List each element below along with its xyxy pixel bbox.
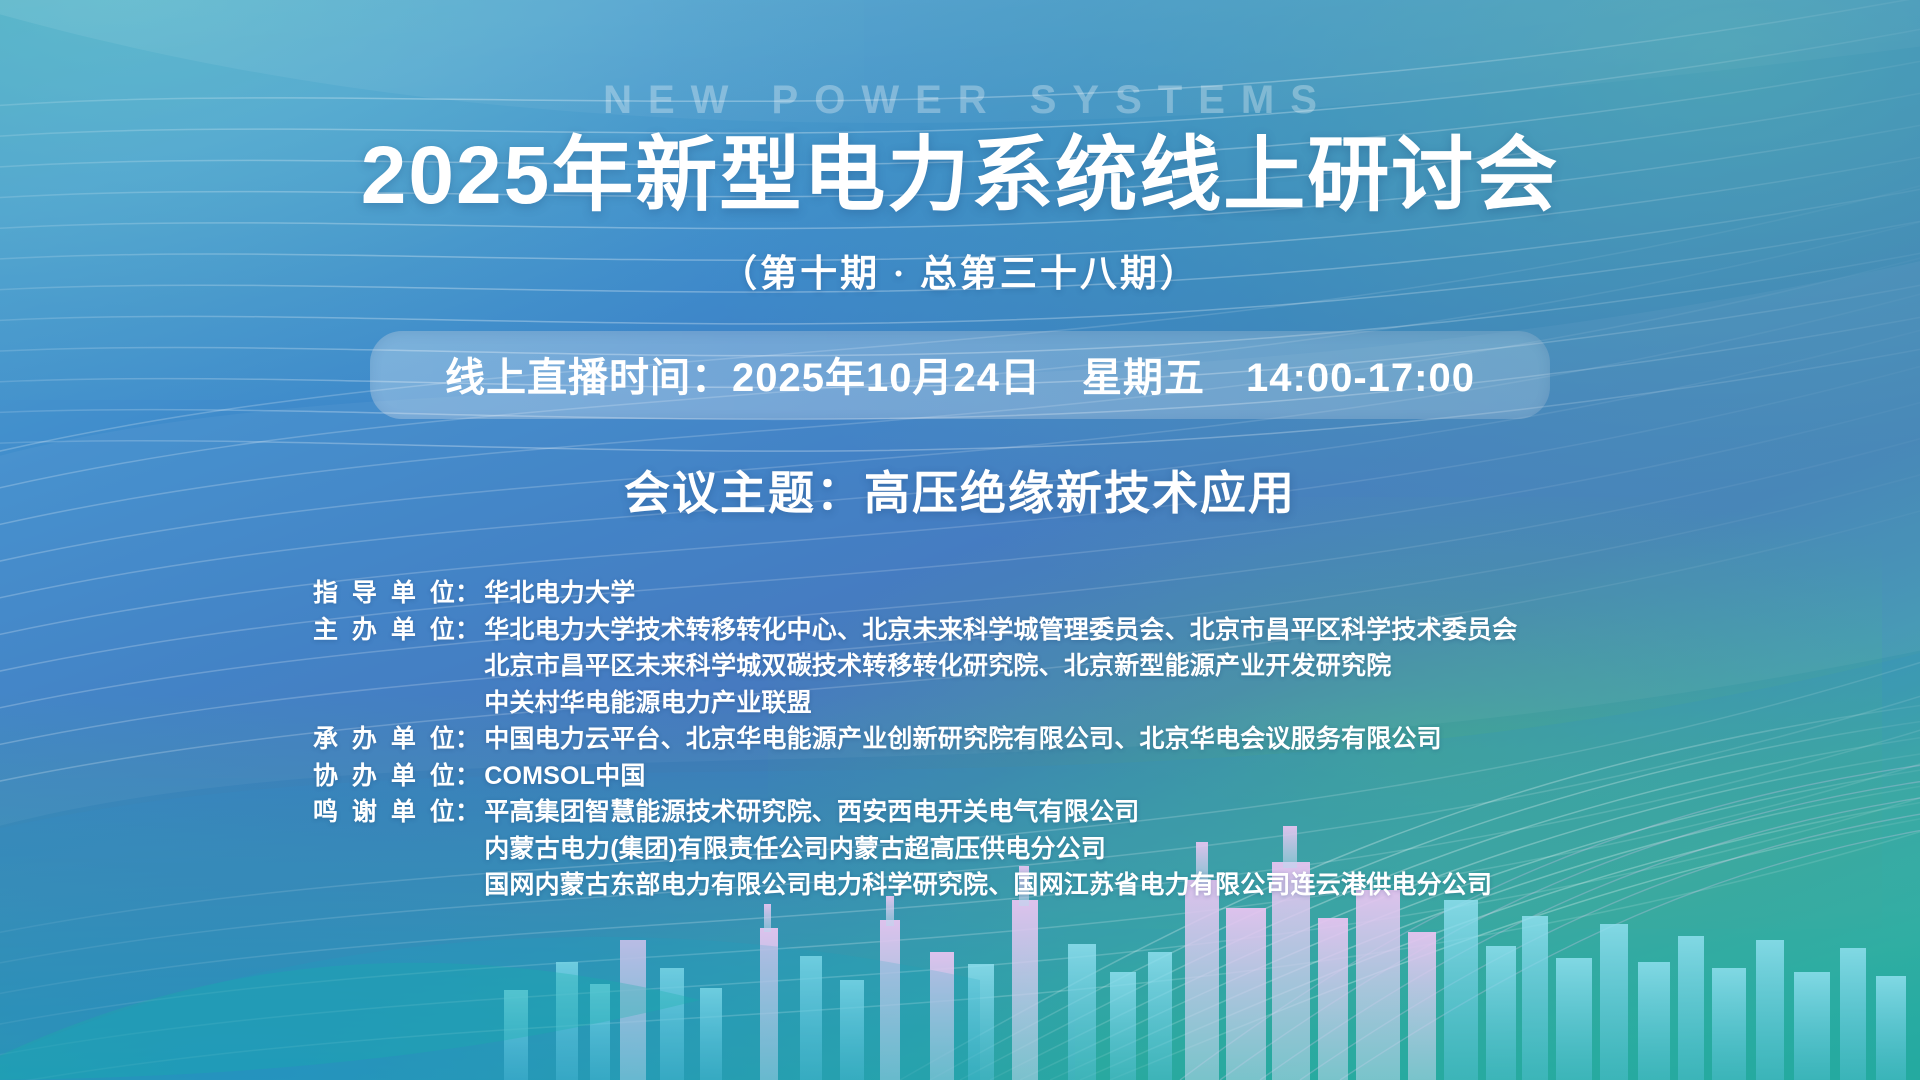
- org-label: 主办单位: [313, 612, 455, 649]
- org-line: 中关村华电能源电力产业联盟: [484, 685, 1613, 722]
- org-colon: ：: [455, 758, 484, 795]
- org-line: 华北电力大学: [484, 575, 1613, 612]
- org-values: COMSOL中国: [484, 758, 1613, 795]
- page-title: 2025年新型电力系统线上研讨会: [361, 131, 1559, 221]
- org-row-organizer: 承办单位 ： 中国电力云平台、北京华电能源产业创新研究院有限公司、北京华电会议服…: [313, 721, 1613, 758]
- org-line: 内蒙古电力(集团)有限责任公司内蒙古超高压供电分公司: [484, 831, 1613, 868]
- org-row-guidance: 指导单位 ： 华北电力大学: [313, 575, 1613, 612]
- org-row-acknowledgement: 鸣谢单位 ： 平高集团智慧能源技术研究院、西安西电开关电气有限公司 内蒙古电力(…: [313, 794, 1613, 904]
- org-line: COMSOL中国: [484, 758, 1613, 795]
- org-colon: ：: [455, 575, 484, 612]
- org-colon: ：: [455, 612, 484, 649]
- poster-canvas: NEW POWER SYSTEMS 2025年新型电力系统线上研讨会 （第十期 …: [0, 0, 1920, 1080]
- org-label: 指导单位: [313, 575, 455, 612]
- org-line: 国网内蒙古东部电力有限公司电力科学研究院、国网江苏省电力有限公司连云港供电分公司: [484, 867, 1613, 904]
- org-colon: ：: [455, 721, 484, 758]
- org-label: 鸣谢单位: [313, 794, 455, 831]
- live-time-banner: 线上直播时间：2025年10月24日 星期五 14:00-17:00: [370, 331, 1550, 419]
- organizations-list: 指导单位 ： 华北电力大学 主办单位 ： 华北电力大学技术转移转化中心、北京未来…: [313, 575, 1613, 904]
- org-row-coorganizer: 协办单位 ： COMSOL中国: [313, 758, 1613, 795]
- org-values: 中国电力云平台、北京华电能源产业创新研究院有限公司、北京华电会议服务有限公司: [484, 721, 1613, 758]
- org-line: 中国电力云平台、北京华电能源产业创新研究院有限公司、北京华电会议服务有限公司: [484, 721, 1613, 758]
- org-values: 平高集团智慧能源技术研究院、西安西电开关电气有限公司 内蒙古电力(集团)有限责任…: [484, 794, 1613, 904]
- org-row-host: 主办单位 ： 华北电力大学技术转移转化中心、北京未来科学城管理委员会、北京市昌平…: [313, 612, 1613, 722]
- conference-theme: 会议主题：高压绝缘新技术应用: [624, 457, 1296, 523]
- org-values: 华北电力大学: [484, 575, 1613, 612]
- eyebrow-text: NEW POWER SYSTEMS: [587, 78, 1333, 123]
- org-values: 华北电力大学技术转移转化中心、北京未来科学城管理委员会、北京市昌平区科学技术委员…: [484, 612, 1613, 722]
- org-line: 华北电力大学技术转移转化中心、北京未来科学城管理委员会、北京市昌平区科学技术委员…: [484, 612, 1613, 649]
- org-label: 协办单位: [313, 758, 455, 795]
- org-line: 平高集团智慧能源技术研究院、西安西电开关电气有限公司: [484, 794, 1613, 831]
- org-line: 北京市昌平区未来科学城双碳技术转移转化研究院、北京新型能源产业开发研究院: [484, 648, 1613, 685]
- poster-content: NEW POWER SYSTEMS 2025年新型电力系统线上研讨会 （第十期 …: [0, 0, 1920, 1080]
- org-label: 承办单位: [313, 721, 455, 758]
- org-colon: ：: [455, 794, 484, 831]
- session-subtitle: （第十期 · 总第三十八期）: [720, 243, 1200, 297]
